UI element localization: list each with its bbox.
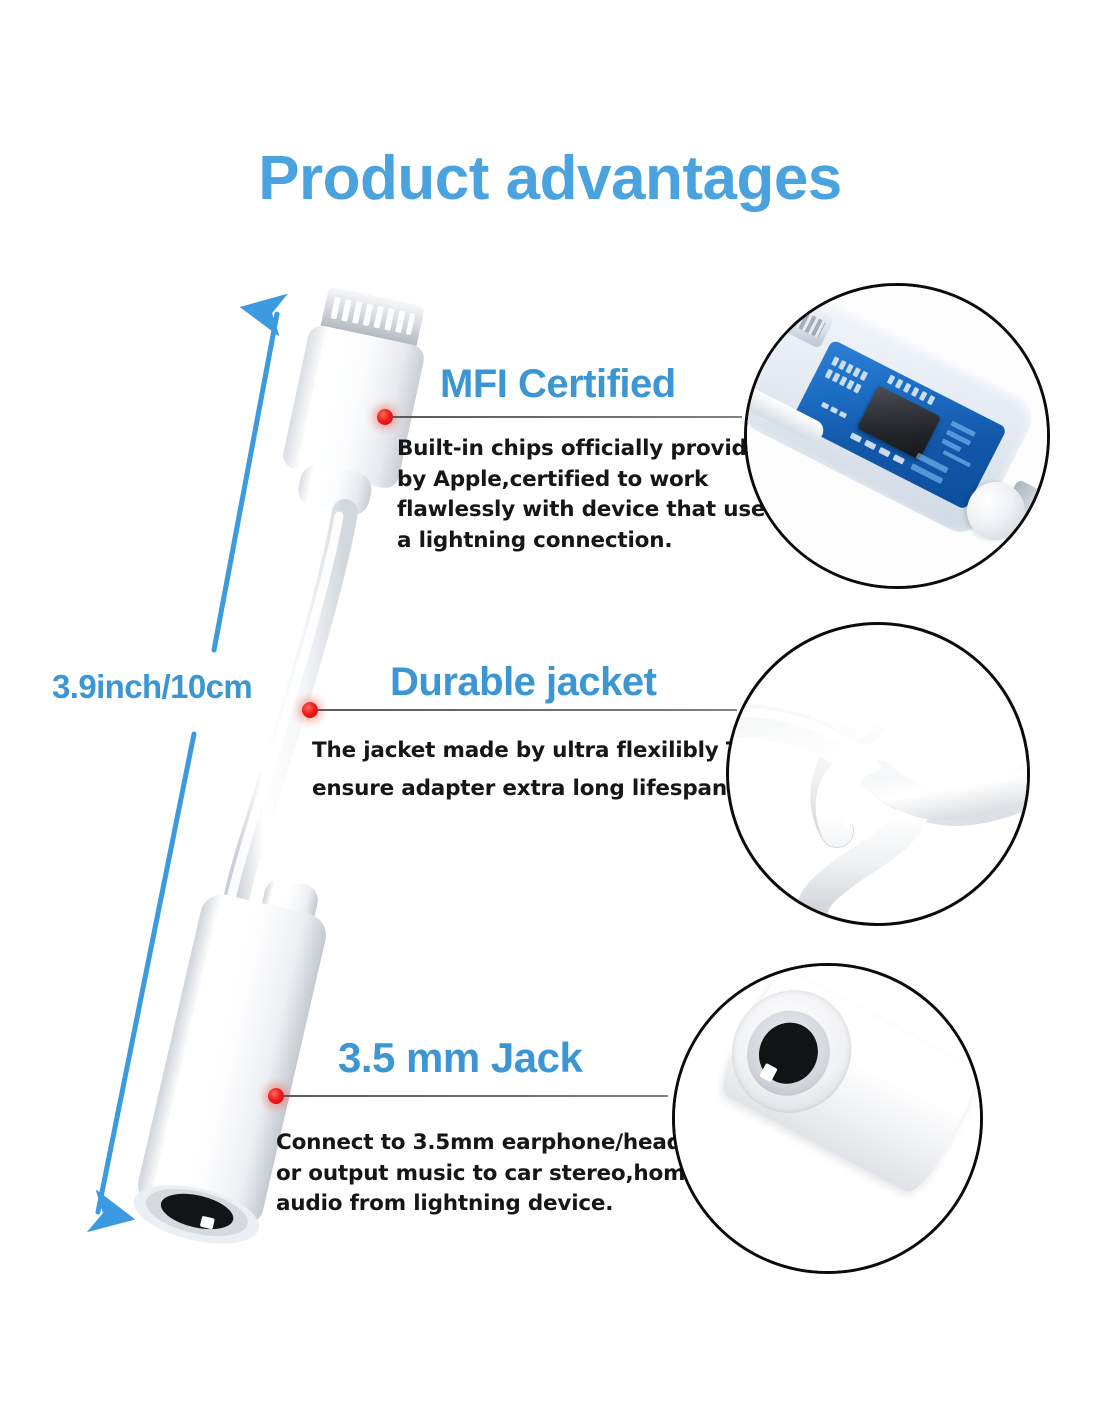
chip-scene: [747, 286, 1047, 586]
circuit-board: [791, 339, 1007, 510]
leader-line-jacket: [317, 709, 737, 711]
page-title: Product advantages: [0, 146, 1100, 211]
jack-ring: [732, 996, 845, 1110]
feature-body-line: ensure adapter extra long lifespan.: [312, 770, 778, 808]
leader-dot-jacket: [302, 702, 318, 718]
leader-line-jack: [283, 1095, 668, 1097]
dimension-label: 3.9inch/10cm: [52, 668, 252, 706]
leader-dot-mfi: [377, 409, 393, 425]
feature-body-line: Built-in chips officially provided: [397, 434, 778, 465]
jack-barrel: [714, 966, 983, 1199]
chip-ic: [857, 385, 941, 460]
feature-body-line: Connect to 3.5mm earphone/headset: [276, 1128, 719, 1159]
feature-body-jacket: The jacket made by ultra flexilibly TPE,…: [312, 732, 778, 807]
dimension-arrow-up: [214, 314, 277, 650]
dimension-arrow-down: [98, 734, 194, 1212]
inset-chip-pcb-closeup: [744, 283, 1050, 589]
connector-end-cap: [967, 482, 1025, 540]
feature-body-line: flawlessly with device that uses: [397, 495, 778, 526]
jack-scene: [675, 966, 980, 1271]
jack-port-hole: [748, 1012, 828, 1094]
jack-notch: [759, 1063, 778, 1082]
feature-heading-mfi: MFI Certified: [440, 362, 676, 407]
feature-body-jack: Connect to 3.5mm earphone/headset or out…: [276, 1128, 719, 1220]
jack-face: [710, 969, 872, 1134]
inset-audio-jack-closeup: [672, 963, 983, 1274]
inset-knotted-cable-closeup: [726, 622, 1030, 926]
feature-body-mfi: Built-in chips officially provided by Ap…: [397, 434, 778, 556]
feature-body-line: by Apple,certified to work: [397, 465, 778, 496]
feature-body-line: or output music to car stereo,home: [276, 1159, 719, 1190]
feature-heading-jack: 3.5 mm Jack: [338, 1034, 582, 1082]
feature-heading-jacket: Durable jacket: [390, 660, 656, 705]
feature-body-line: audio from lightning device.: [276, 1189, 719, 1220]
leader-line-mfi: [392, 416, 742, 418]
knot-scene: [729, 625, 1027, 923]
leader-dot-jack: [268, 1088, 284, 1104]
feature-body-line: The jacket made by ultra flexilibly TPE,: [312, 732, 778, 770]
feature-body-line: a lightning connection.: [397, 526, 778, 557]
